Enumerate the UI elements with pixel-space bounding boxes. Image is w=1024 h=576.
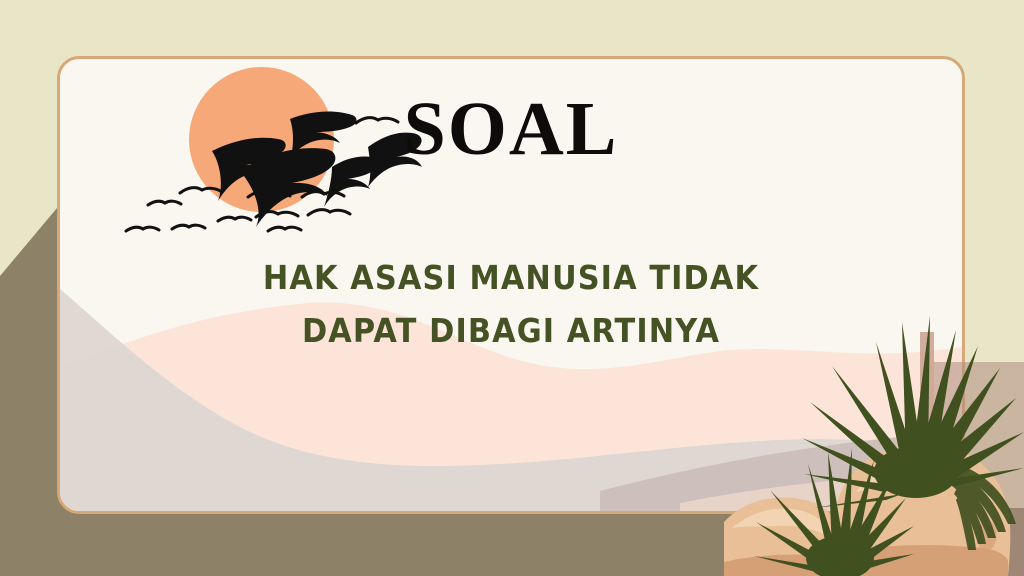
uspace-logo: USPACE: [416, 506, 606, 511]
page-title: SOAL: [60, 91, 962, 167]
question-text-line-2: DAPAT DIBAGI ARTINYA: [96, 304, 926, 357]
question-text-line-1: HAK ASASI MANUSIA TIDAK: [96, 251, 926, 304]
logo-wordmark: USPACE: [416, 506, 606, 511]
question-text: HAK ASASI MANUSIA TIDAK DAPAT DIBAGI ART…: [96, 251, 926, 358]
content-card: SOAL HAK ASASI MANUSIA TIDAK DAPAT DIBAG…: [57, 56, 965, 514]
card-inner: SOAL HAK ASASI MANUSIA TIDAK DAPAT DIBAG…: [60, 59, 962, 511]
slide-canvas: SOAL HAK ASASI MANUSIA TIDAK DAPAT DIBAG…: [0, 0, 1024, 576]
